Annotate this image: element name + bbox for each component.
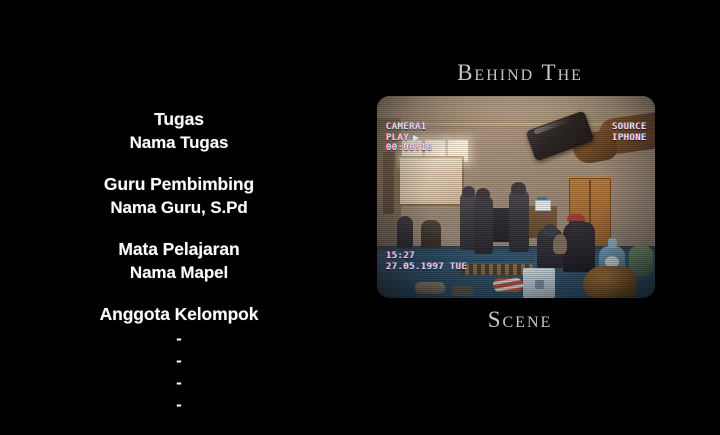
list-item: - xyxy=(40,350,318,372)
credit-value-tugas: Nama Tugas xyxy=(40,131,318,154)
credit-heading-tugas: Tugas xyxy=(40,108,318,131)
list-item: - xyxy=(40,372,318,394)
video-player-frame[interactable]: CAMERA1 PLAY 00:00:16 SOURCE IPHONE 15:2… xyxy=(377,96,655,298)
credit-group-mata-pelajaran: Mata Pelajaran Nama Mapel xyxy=(40,238,318,284)
list-item: - xyxy=(40,328,318,350)
credit-value-mata-pelajaran: Nama Mapel xyxy=(40,261,318,284)
list-item: - xyxy=(40,394,318,416)
credit-heading-anggota-kelompok: Anggota Kelompok xyxy=(40,303,318,326)
title-scene: Scene xyxy=(360,307,680,333)
video-scene-image xyxy=(377,96,655,298)
credit-heading-mata-pelajaran: Mata Pelajaran xyxy=(40,238,318,261)
video-credits-slide: Tugas Nama Tugas Guru Pembimbing Nama Gu… xyxy=(0,0,720,405)
credit-value-guru-pembimbing: Nama Guru, S.Pd xyxy=(40,196,318,219)
members-list: - - - - xyxy=(40,328,318,416)
credits-block: Tugas Nama Tugas Guru Pembimbing Nama Gu… xyxy=(40,108,318,435)
credit-heading-guru-pembimbing: Guru Pembimbing xyxy=(40,173,318,196)
credit-group-anggota-kelompok: Anggota Kelompok - - - - xyxy=(40,303,318,416)
behind-the-scene-panel: Behind The xyxy=(360,50,680,350)
credit-group-guru-pembimbing: Guru Pembimbing Nama Guru, S.Pd xyxy=(40,173,318,219)
title-behind-the: Behind The xyxy=(360,60,680,86)
credit-group-tugas: Tugas Nama Tugas xyxy=(40,108,318,154)
